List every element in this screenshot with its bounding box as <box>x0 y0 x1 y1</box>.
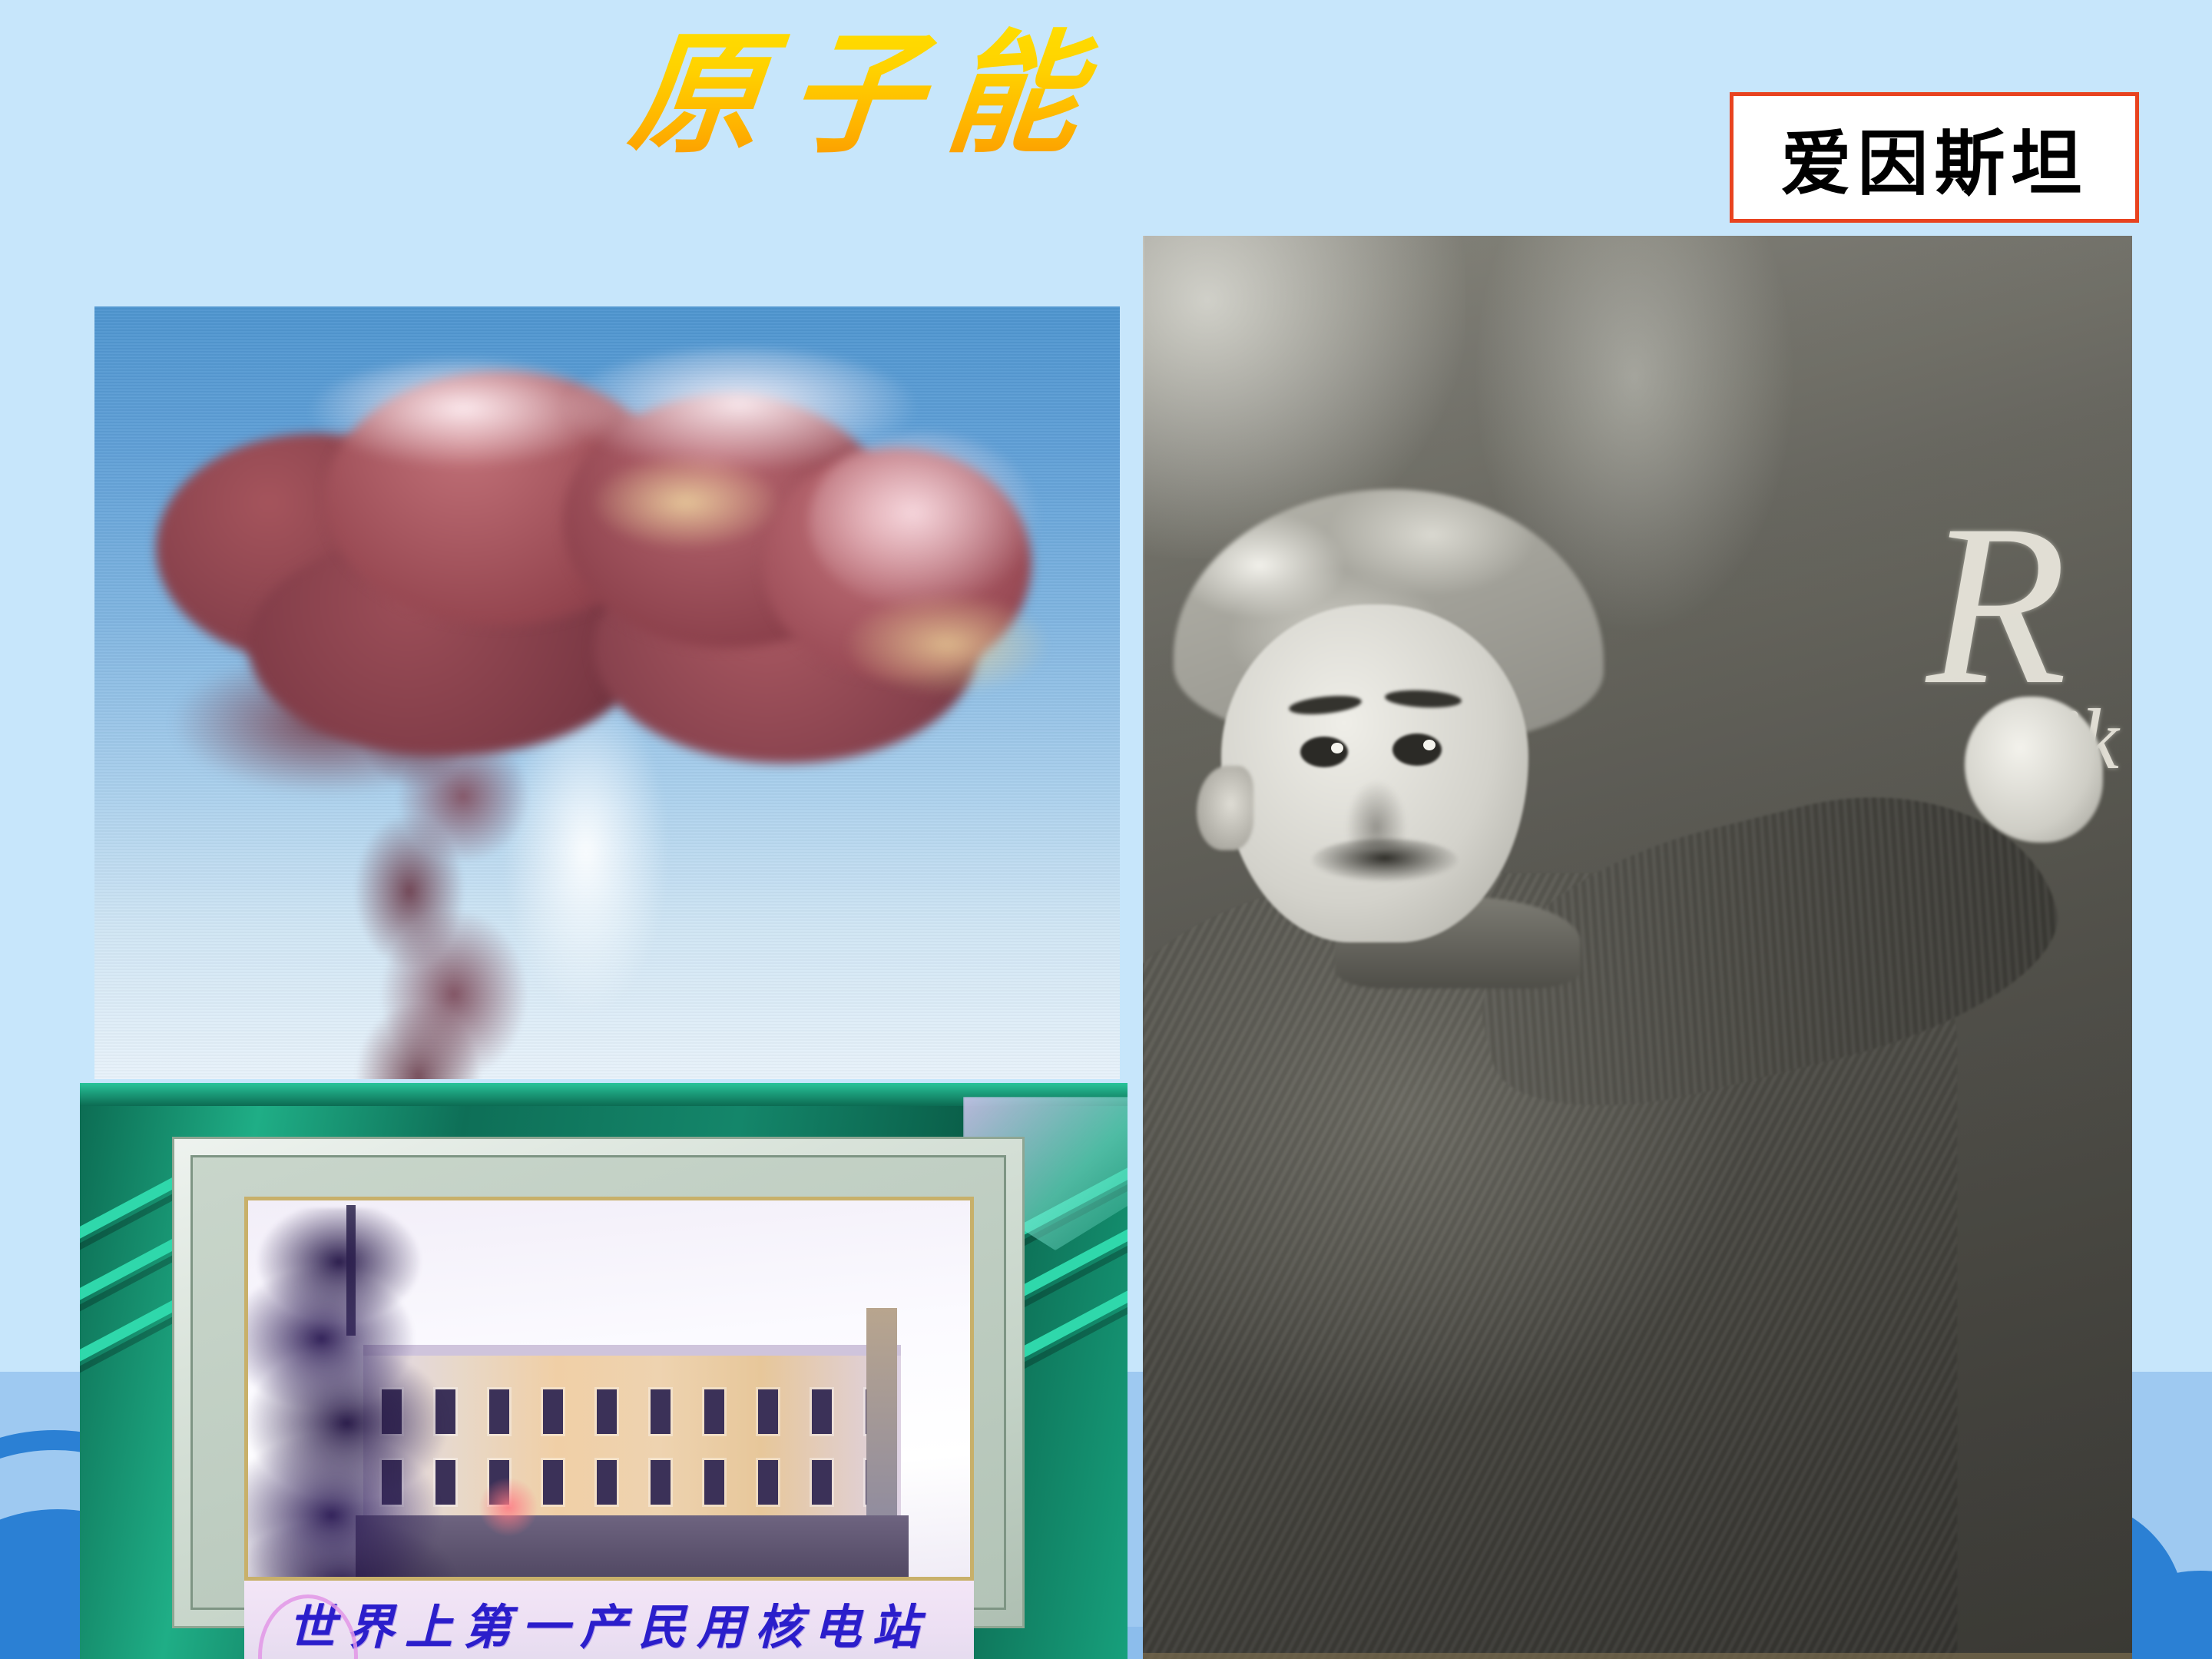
plant-photo-sky <box>248 1200 970 1577</box>
einstein-face <box>1221 604 1528 942</box>
building-window <box>704 1389 724 1434</box>
plant-tower <box>866 1308 897 1538</box>
chalk-symbol-r: R <box>1926 489 2067 720</box>
nuclear-plant-caption: 世界上第一产民用核电站 <box>288 1588 930 1657</box>
building-window <box>543 1460 563 1505</box>
plant-foreground-tree <box>244 1208 478 1581</box>
building-window <box>543 1389 563 1434</box>
nuclear-plant-photo-frame: 世界上第一产民用核电站 <box>80 1083 1128 1659</box>
building-window <box>597 1389 617 1434</box>
cloud-highlight <box>809 433 1039 610</box>
einstein-name-label: 爱因斯坦 <box>1780 107 2088 209</box>
plant-lens-flare <box>478 1477 538 1537</box>
cloud-cap <box>133 341 1039 740</box>
mushroom-cloud-photo <box>94 306 1120 1079</box>
einstein-mustache <box>1312 839 1458 882</box>
photo-bottom-edge <box>1143 1653 2132 1659</box>
einstein-eye-highlight <box>1331 743 1343 753</box>
photo-mat-inner: 世界上第一产民用核电站 <box>190 1155 1006 1610</box>
nuclear-plant-photo <box>244 1197 974 1581</box>
slide-title: 原子能 <box>560 17 1176 178</box>
building-window <box>651 1460 671 1505</box>
building-window <box>758 1389 778 1434</box>
slide-canvas: 原子能 爱因斯坦 <box>0 0 2212 1659</box>
building-window <box>597 1460 617 1505</box>
einstein-blackboard-photo: R ik = 0 <box>1143 236 2132 1659</box>
building-window <box>651 1389 671 1434</box>
einstein-ear <box>1197 766 1253 850</box>
einstein-name-box: 爱因斯坦 <box>1730 92 2139 223</box>
building-window <box>489 1389 509 1434</box>
cloud-highlight <box>594 456 778 548</box>
cloud-highlight <box>847 594 1047 694</box>
photo-mat-outer: 世界上第一产民用核电站 <box>172 1137 1025 1628</box>
einstein-nose <box>1346 781 1406 847</box>
einstein-head <box>1174 489 1604 965</box>
building-window <box>812 1389 832 1434</box>
building-window <box>812 1460 832 1505</box>
building-window <box>704 1460 724 1505</box>
einstein-eye-highlight <box>1423 740 1435 750</box>
einstein-eye <box>1392 733 1442 766</box>
building-window <box>758 1460 778 1505</box>
